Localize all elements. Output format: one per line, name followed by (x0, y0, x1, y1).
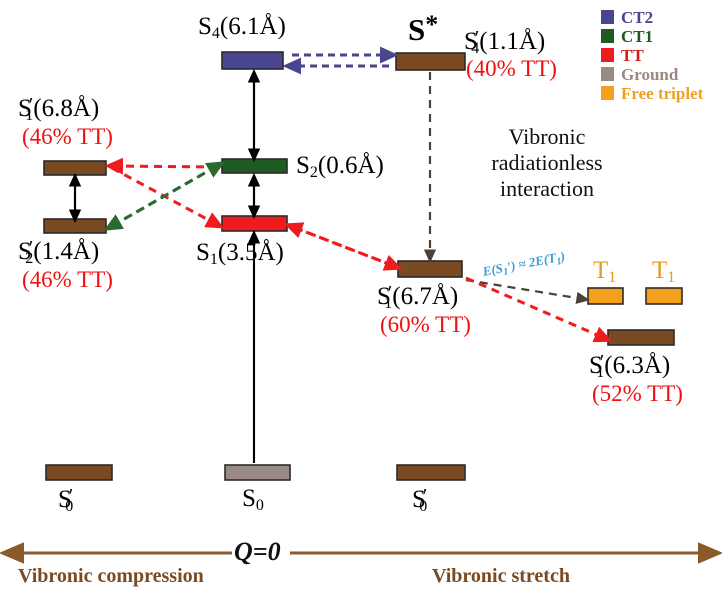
level-bar-T1-b (646, 288, 682, 304)
arrow-S1p-mid-to-S1p-right (466, 278, 604, 338)
label-S2-prime-left-pct: (46% TT) (22, 268, 113, 291)
legend-item-ct2: CT2 (601, 8, 703, 26)
legend-swatch-tt (601, 48, 614, 62)
legend-swatch-ct2 (601, 10, 614, 24)
label-Sstar: S* (408, 12, 438, 45)
label-T1-a: T1 (593, 258, 616, 286)
legend-label-tt: TT (621, 47, 644, 64)
label-T1-b: T1 (652, 258, 675, 286)
level-bar-T1-a (588, 288, 623, 304)
legend: CT2 CT1 TT Ground Free triplet (601, 8, 703, 103)
purple-dashed-arrows (292, 55, 389, 66)
level-bar-S0 (225, 465, 290, 480)
axis-label-compression: Vibronic compression (18, 565, 204, 588)
level-bar-S1p-right (608, 330, 674, 345)
label-S1-prime-mid: S′1(6.7Å) (377, 283, 458, 312)
label-S0: S0 (242, 486, 264, 514)
level-bar-S2p-left (44, 219, 106, 233)
label-S1-prime-right-pct: (52% TT) (592, 382, 683, 405)
axis-label-stretch: Vibronic stretch (432, 565, 570, 588)
level-bar-S4 (222, 52, 283, 69)
legend-item-free-triplet: Free triplet (601, 84, 703, 102)
level-bar-S1 (222, 216, 287, 231)
arrow-S2-to-S1p-left (114, 166, 218, 167)
label-S1-prime-right: S′1(6.3Å) (589, 352, 670, 381)
label-S0-prime-right: S′0 (412, 486, 427, 515)
level-bar-S1p-left (44, 161, 106, 175)
axis-origin-label: Q=0 (234, 537, 281, 567)
legend-swatch-ground (601, 67, 614, 81)
legend-swatch-free-triplet (601, 86, 614, 100)
legend-item-tt: TT (601, 46, 703, 64)
level-bar-S2 (222, 159, 287, 173)
legend-label-ct1: CT1 (621, 28, 653, 45)
label-S0-prime-left: S′0 (58, 486, 73, 515)
vibronic-interaction-note: Vibronic radiationless interaction (452, 124, 642, 202)
label-S4: S4(6.1Å) (198, 14, 286, 42)
level-bar-S1p-mid (398, 261, 462, 277)
level-bars (44, 52, 682, 480)
arrow-S1p-mid-to-T1 (466, 280, 583, 299)
label-S4-prime: S′4(1.1Å) (464, 28, 545, 57)
legend-item-ground: Ground (601, 65, 703, 83)
level-bar-Sstar (396, 53, 465, 70)
label-S1-prime-mid-pct: (60% TT) (380, 313, 471, 336)
legend-item-ct1: CT1 (601, 27, 703, 45)
label-S2: S2(0.6Å) (296, 153, 384, 181)
legend-swatch-ct1 (601, 29, 614, 43)
label-S1: S1(3.5Å) (196, 240, 284, 268)
label-S1-prime-left: S′1(6.8Å) (18, 95, 99, 124)
label-S1-prime-left-pct: (46% TT) (22, 125, 113, 148)
level-bar-S0p-left (46, 465, 112, 480)
legend-label-free-triplet: Free triplet (621, 85, 703, 102)
level-bar-S0p-right (397, 465, 465, 480)
legend-label-ct2: CT2 (621, 9, 653, 26)
label-S4-prime-pct: (40% TT) (466, 57, 557, 80)
label-S2-prime-left: S′2(1.4Å) (18, 238, 99, 267)
figure-canvas: S4(6.1Å) S* S′4(1.1Å) (40% TT) S′1(6.8Å)… (0, 0, 722, 600)
legend-label-ground: Ground (621, 66, 678, 83)
